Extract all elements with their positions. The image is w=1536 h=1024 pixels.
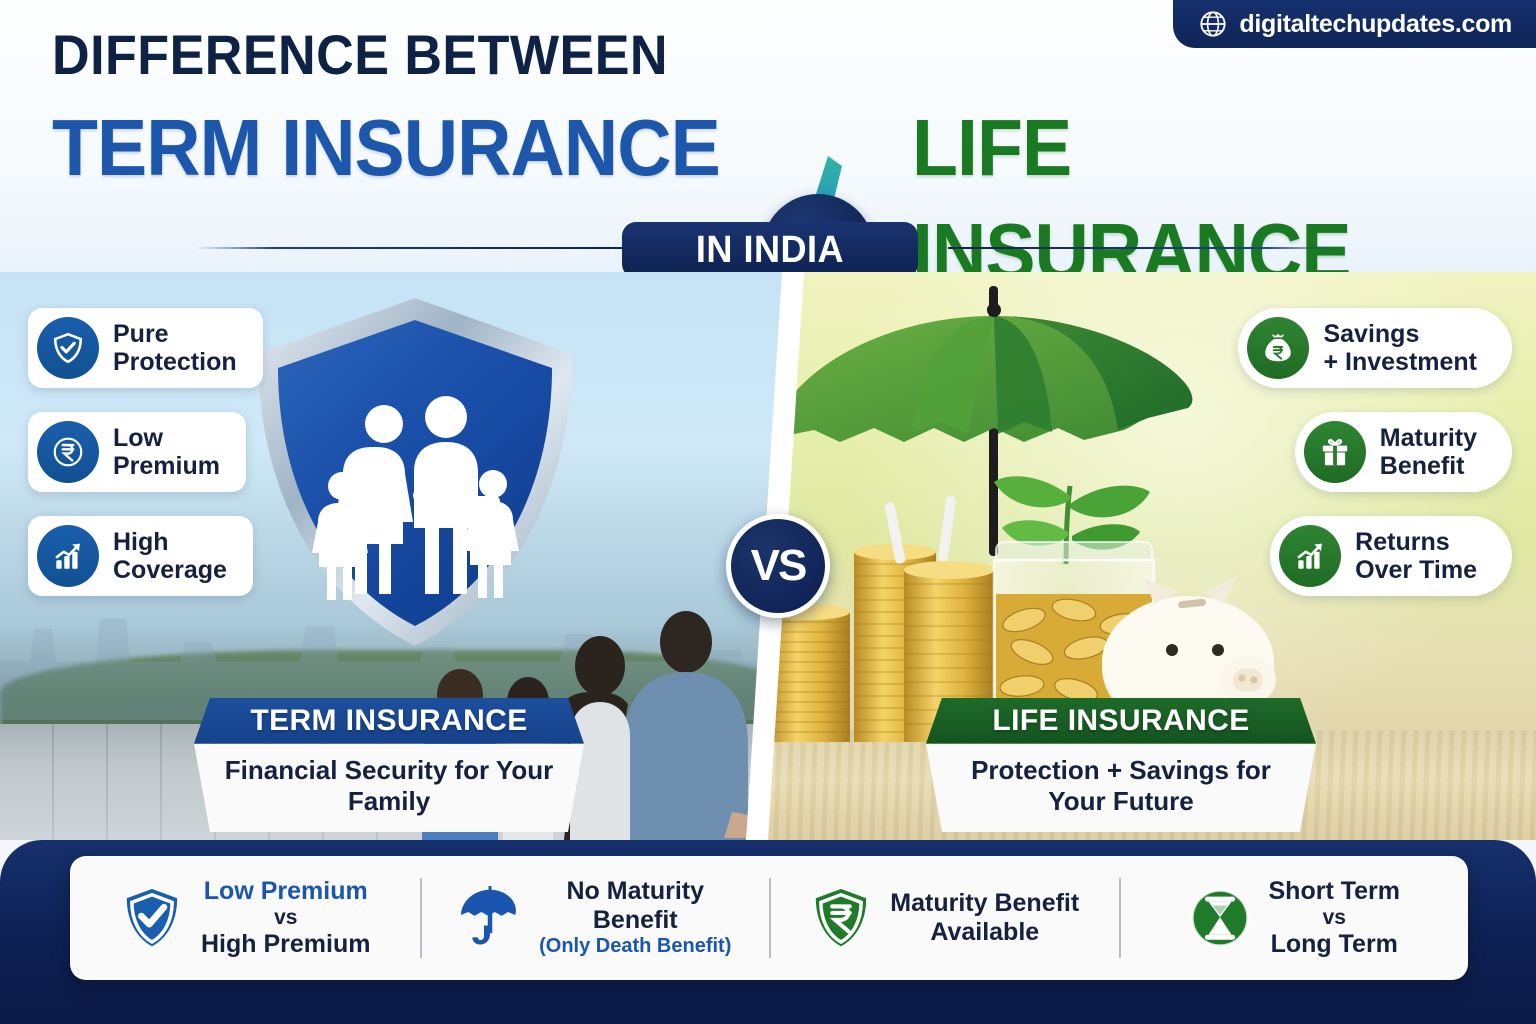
money-bag-rupee-icon <box>1247 317 1309 379</box>
shield-check-icon <box>37 317 99 379</box>
banner-subtitle: Protection + Savings for Your Future <box>944 755 1298 817</box>
summary-line3: Long Term <box>1269 930 1401 959</box>
divider-line-left <box>196 247 636 249</box>
vs-badge-center: VS <box>726 514 830 618</box>
region-badge-label: IN INDIA <box>696 229 844 272</box>
green-hourglass-icon <box>1187 885 1253 951</box>
summary-item-premium[interactable]: Low Premium vs High Premium <box>70 856 420 980</box>
feature-label: Pure Protection <box>113 320 237 377</box>
banner-title: TERM INSURANCE <box>250 704 527 738</box>
life-insurance-panel: Savings + Investment <box>746 272 1536 840</box>
comparison-area: Pure Protection Low Premium <box>0 272 1536 840</box>
summary-item-maturity-available[interactable]: Maturity Benefit Available <box>769 856 1119 980</box>
growth-chart-icon <box>1279 525 1341 587</box>
banner-subtitle-bar: Protection + Savings for Your Future <box>926 744 1316 832</box>
summary-line2: Available <box>890 918 1079 947</box>
summary-line1: No Maturity <box>539 877 731 906</box>
feature-label: Maturity Benefit <box>1380 424 1503 481</box>
banner-subtitle-bar: Financial Security for Your Family <box>194 744 584 832</box>
feature-high-coverage[interactable]: High Coverage <box>28 516 253 596</box>
term-insurance-panel: Pure Protection Low Premium <box>0 272 790 840</box>
brand-name: digitaltechupdates.com <box>1239 10 1512 39</box>
gift-box-icon <box>1304 421 1366 483</box>
life-insurance-banner: LIFE INSURANCE Protection + Savings for … <box>926 698 1316 832</box>
banner-subtitle: Financial Security for Your Family <box>212 755 566 817</box>
banner-title-bar: LIFE INSURANCE <box>926 698 1316 744</box>
feature-low-premium[interactable]: Low Premium <box>28 412 246 492</box>
summary-card: Low Premium vs High Premium No Maturity … <box>70 856 1468 980</box>
green-shield-rupee-icon <box>808 885 874 951</box>
term-insurance-banner: TERM INSURANCE Financial Security for Yo… <box>194 698 584 832</box>
main-title-row: TERM INSURANCE VS LIFE INSURANCE <box>0 96 1536 200</box>
summary-line1: Low Premium <box>201 877 370 906</box>
feature-label: Savings + Investment <box>1323 320 1503 377</box>
feature-pure-protection[interactable]: Pure Protection <box>28 308 263 388</box>
vs-label-center: VS <box>751 541 806 591</box>
blue-umbrella-icon <box>457 885 523 951</box>
infographic-canvas: digitaltechupdates.com DIFFERENCE BETWEE… <box>0 0 1536 1024</box>
blue-shield-check-icon <box>119 885 185 951</box>
summary-line2: vs <box>1269 906 1401 930</box>
summary-line1: Maturity Benefit <box>890 889 1079 918</box>
feature-maturity-benefit[interactable]: Maturity Benefit <box>1295 412 1512 492</box>
region-badge: IN INDIA <box>622 222 918 278</box>
feature-label: Returns Over Time <box>1355 528 1503 585</box>
summary-line2: Benefit <box>539 906 731 935</box>
summary-line3: High Premium <box>201 930 370 959</box>
divider-line-right <box>948 247 1348 249</box>
feature-savings-investment[interactable]: Savings + Investment <box>1238 308 1512 388</box>
banner-title: LIFE INSURANCE <box>992 704 1249 738</box>
summary-item-maturity-none[interactable]: No Maturity Benefit (Only Death Benefit) <box>420 856 770 980</box>
header: digitaltechupdates.com DIFFERENCE BETWEE… <box>0 0 1536 272</box>
globe-icon <box>1199 10 1227 38</box>
feature-label: Low Premium <box>113 424 220 481</box>
rupee-coin-icon <box>37 421 99 483</box>
summary-note: (Only Death Benefit) <box>539 935 731 958</box>
banner-title-bar: TERM INSURANCE <box>194 698 584 744</box>
growth-chart-icon <box>37 525 99 587</box>
title-term-insurance: TERM INSURANCE <box>52 96 720 200</box>
kicker-title: DIFFERENCE BETWEEN <box>52 22 668 87</box>
feature-label: High Coverage <box>113 528 227 585</box>
life-feature-list: Savings + Investment <box>1238 308 1512 596</box>
summary-item-term-length[interactable]: Short Term vs Long Term <box>1119 856 1469 980</box>
summary-line1: Short Term <box>1269 877 1401 906</box>
term-feature-list: Pure Protection Low Premium <box>28 308 263 596</box>
feature-returns-over-time[interactable]: Returns Over Time <box>1270 516 1512 596</box>
brand-bar[interactable]: digitaltechupdates.com <box>1173 0 1536 48</box>
summary-line2: vs <box>201 906 370 930</box>
